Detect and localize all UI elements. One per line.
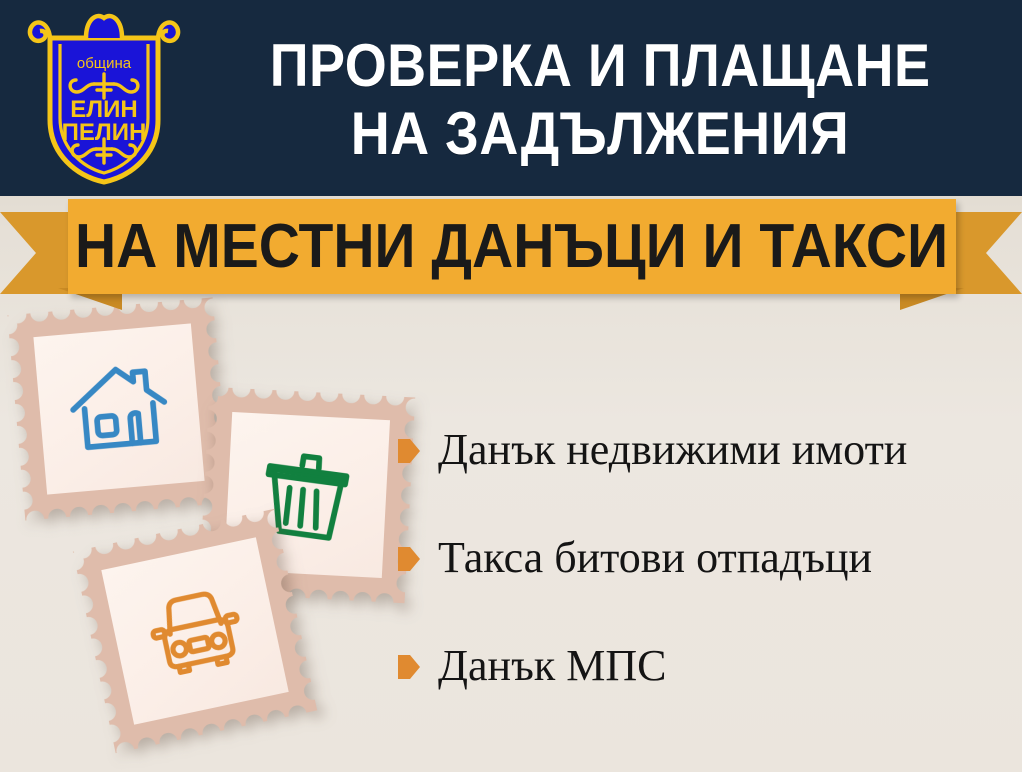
house-icon xyxy=(63,353,176,466)
ribbon-panel: НА МЕСТНИ ДАНЪЦИ И ТАКСИ xyxy=(68,199,956,294)
ribbon-label: НА МЕСТНИ ДАНЪЦИ И ТАКСИ xyxy=(75,214,948,280)
arrow-bullet-icon xyxy=(398,655,420,679)
title-line-1: ПРОВЕРКА И ПЛАЩАНЕ xyxy=(270,32,931,100)
header-bar: община ЕЛИН ПЕЛИН ПРОВЕРКА И ПЛАЩАНЕ НА … xyxy=(0,0,1022,196)
list-item-label: Данък МПС xyxy=(438,640,666,692)
stamp-inner-car xyxy=(101,537,288,724)
stamp-inner-house xyxy=(33,323,204,494)
list-item-label: Данък недвижими имоти xyxy=(438,424,907,476)
tax-type-list: Данък недвижими имоти Такса битови отпад… xyxy=(398,420,1008,696)
logo-name-line2: ПЕЛИН xyxy=(62,119,147,146)
arrow-bullet-icon xyxy=(398,547,420,571)
subtitle-ribbon: НА МЕСТНИ ДАНЪЦИ И ТАКСИ xyxy=(0,196,1022,306)
list-item-label: Такса битови отпадъци xyxy=(438,532,872,584)
coat-of-arms-shield-icon: община ЕЛИН ПЕЛИН xyxy=(24,8,184,188)
poster-canvas: община ЕЛИН ПЕЛИН ПРОВЕРКА И ПЛАЩАНЕ НА … xyxy=(0,0,1022,772)
list-item[interactable]: Данък МПС xyxy=(398,636,1008,696)
poster-title: ПРОВЕРКА И ПЛАЩАНЕ НА ЗАДЪЛЖЕНИЯ xyxy=(190,16,1010,184)
municipality-logo: община ЕЛИН ПЕЛИН xyxy=(24,8,184,188)
stamp-card-vehicle-tax xyxy=(73,509,317,753)
list-item[interactable]: Данък недвижими имоти xyxy=(398,420,1008,480)
stamp-collage xyxy=(0,296,420,772)
title-line-2: НА ЗАДЪЛЖЕНИЯ xyxy=(351,100,849,168)
arrow-bullet-icon xyxy=(398,439,420,463)
logo-small-text: община xyxy=(77,55,132,72)
stamp-card-property-tax xyxy=(7,297,230,520)
car-front-icon xyxy=(133,569,256,692)
list-item[interactable]: Такса битови отпадъци xyxy=(398,528,1008,588)
